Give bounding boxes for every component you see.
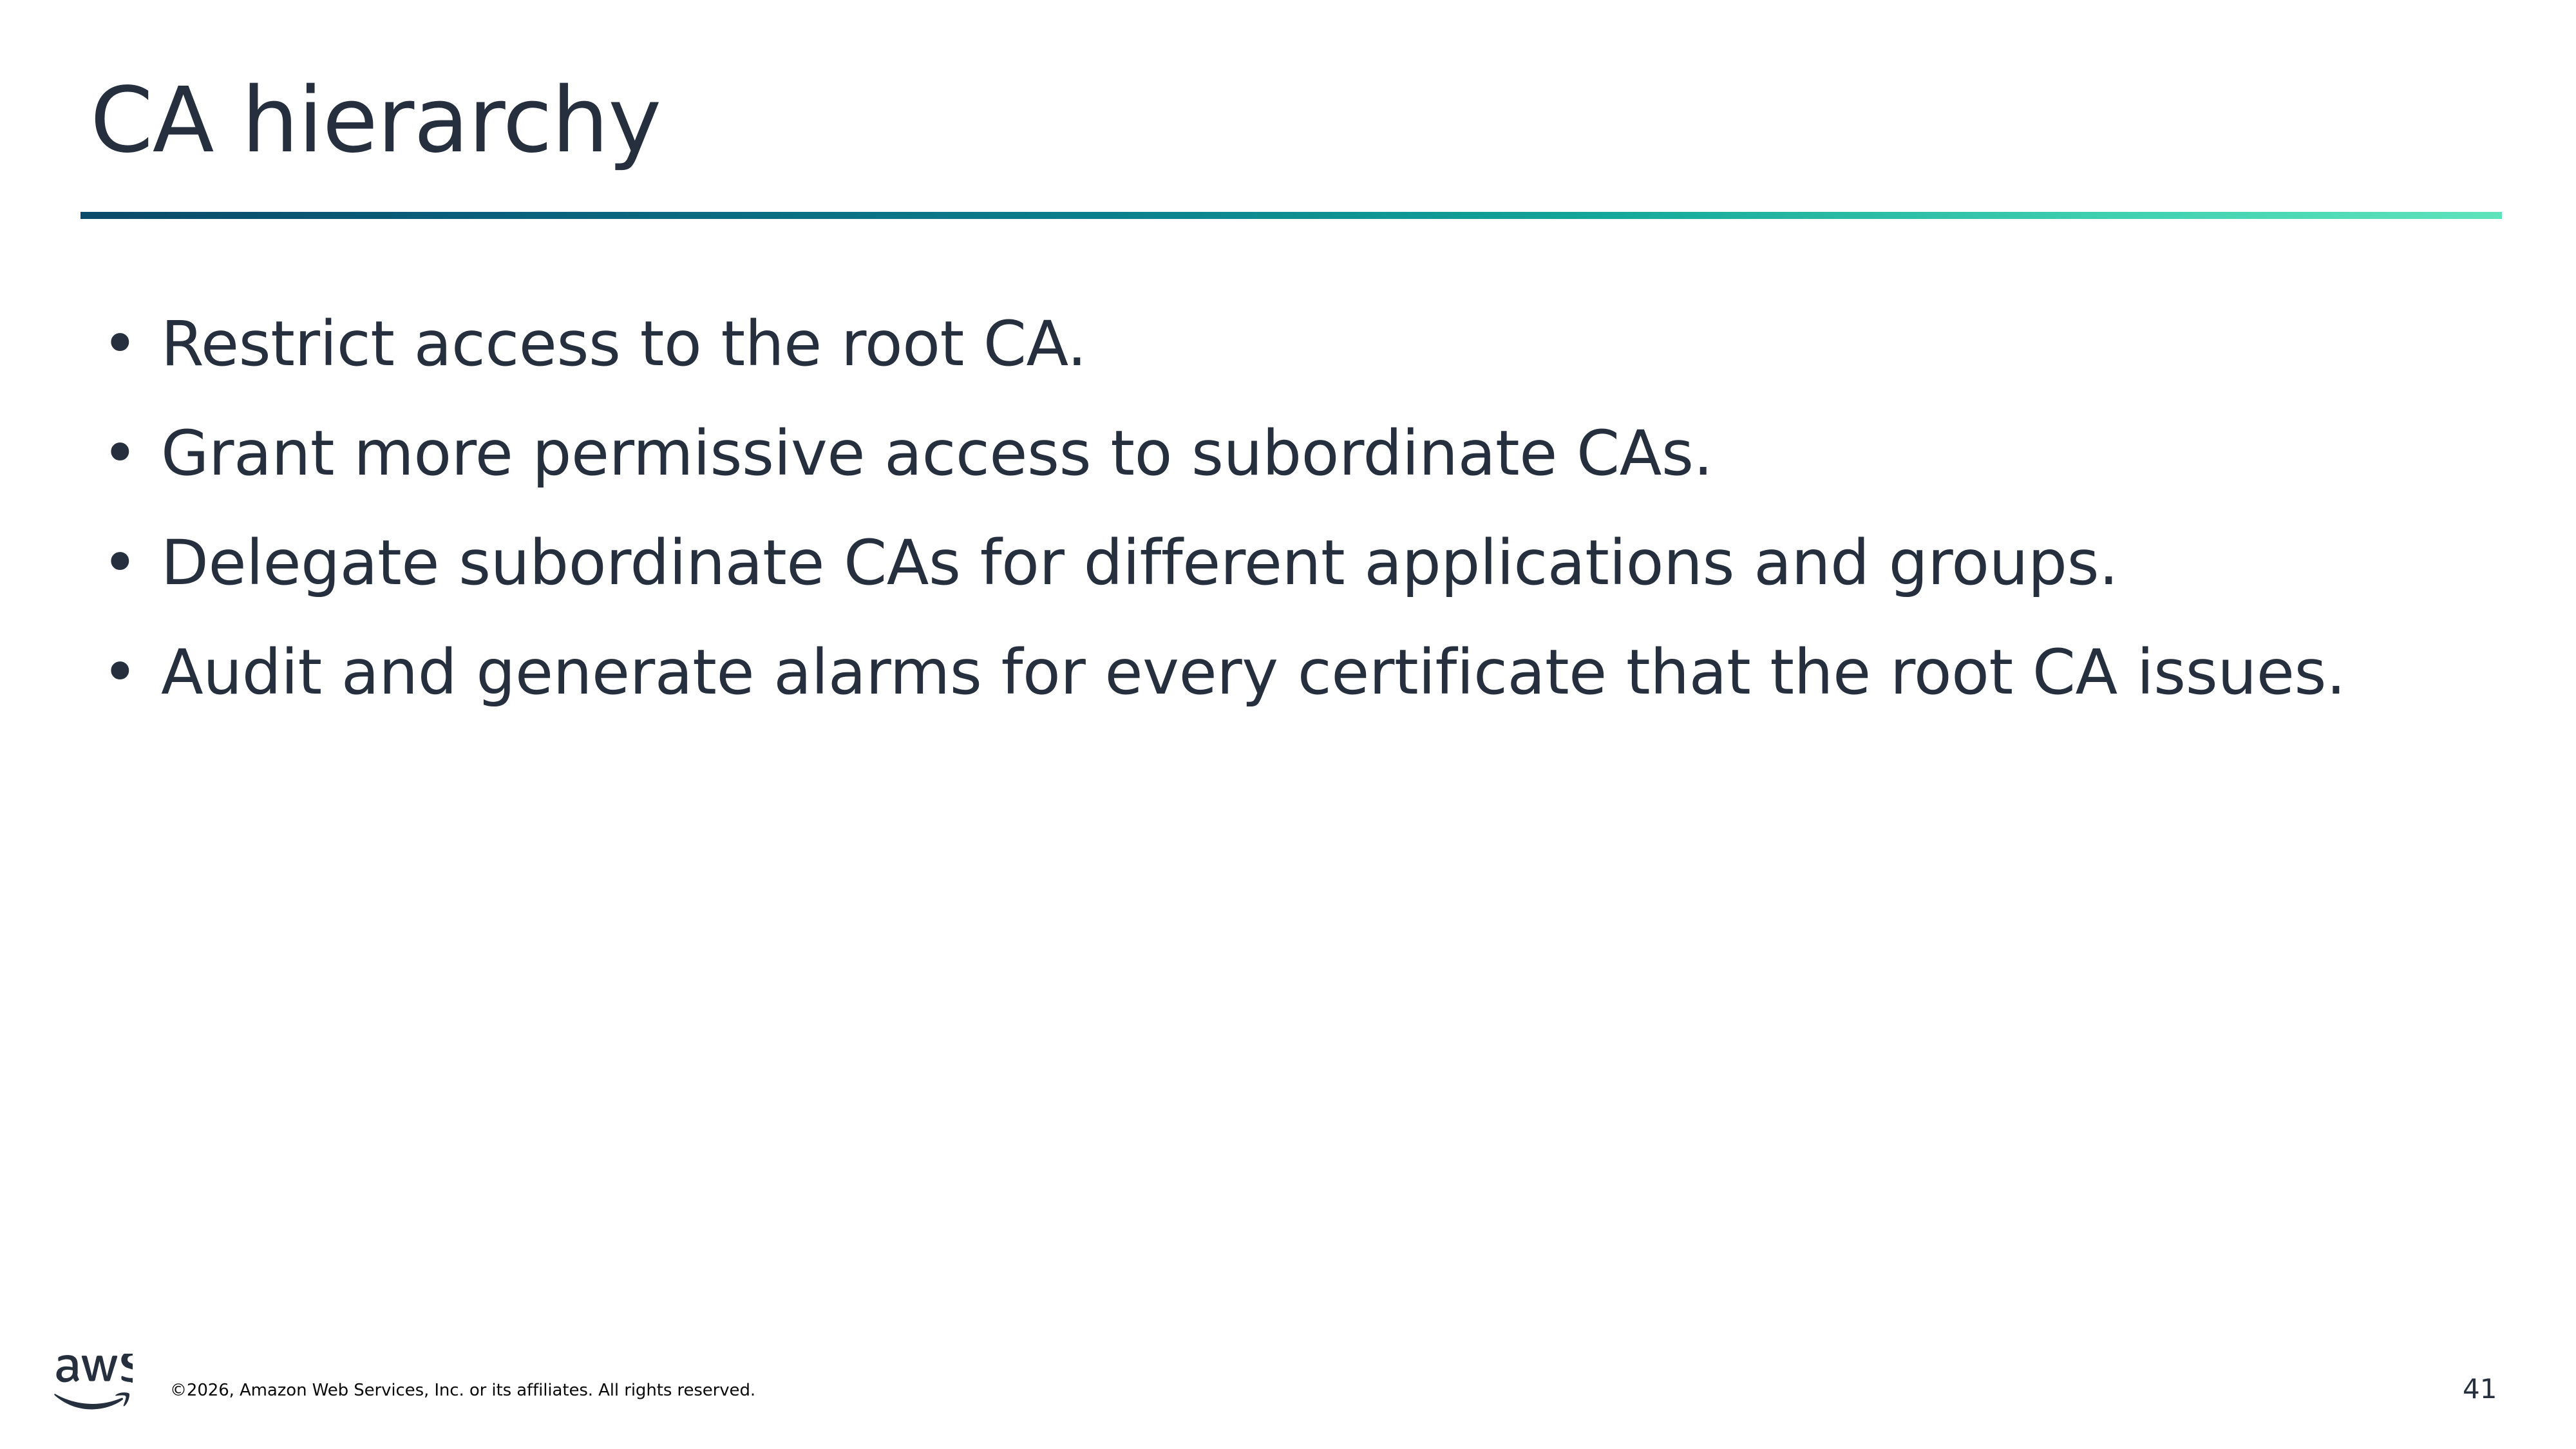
page-number: 41 bbox=[2463, 1373, 2497, 1405]
page-title: CA hierarchy bbox=[90, 76, 661, 166]
list-item: • Audit and generate alarms for every ce… bbox=[97, 638, 2479, 747]
list-item-label: Delegate subordinate CAs for different a… bbox=[161, 528, 2479, 598]
slide-canvas: CA hierarchy • Restrict access to the ro… bbox=[0, 0, 2576, 1449]
list-item-label: Grant more permissive access to subordin… bbox=[161, 419, 2479, 488]
list-item: • Restrict access to the root CA. bbox=[97, 309, 2479, 419]
list-item-label: Restrict access to the root CA. bbox=[161, 309, 2479, 379]
list-item: • Grant more permissive access to subord… bbox=[97, 419, 2479, 528]
bullet-marker-icon: • bbox=[97, 638, 161, 707]
bullet-marker-icon: • bbox=[97, 419, 161, 488]
title-divider-rule bbox=[80, 212, 2502, 219]
list-item-label: Audit and generate alarms for every cert… bbox=[161, 638, 2479, 707]
list-item: • Delegate subordinate CAs for different… bbox=[97, 528, 2479, 638]
bullet-marker-icon: • bbox=[97, 309, 161, 379]
slide-footer: ©2026, Amazon Web Services, Inc. or its … bbox=[0, 1352, 2576, 1449]
bullet-marker-icon: • bbox=[97, 528, 161, 598]
bullet-list: • Restrict access to the root CA. • Gran… bbox=[97, 309, 2479, 747]
copyright-notice: ©2026, Amazon Web Services, Inc. or its … bbox=[170, 1381, 755, 1400]
aws-logo-icon bbox=[50, 1354, 133, 1421]
